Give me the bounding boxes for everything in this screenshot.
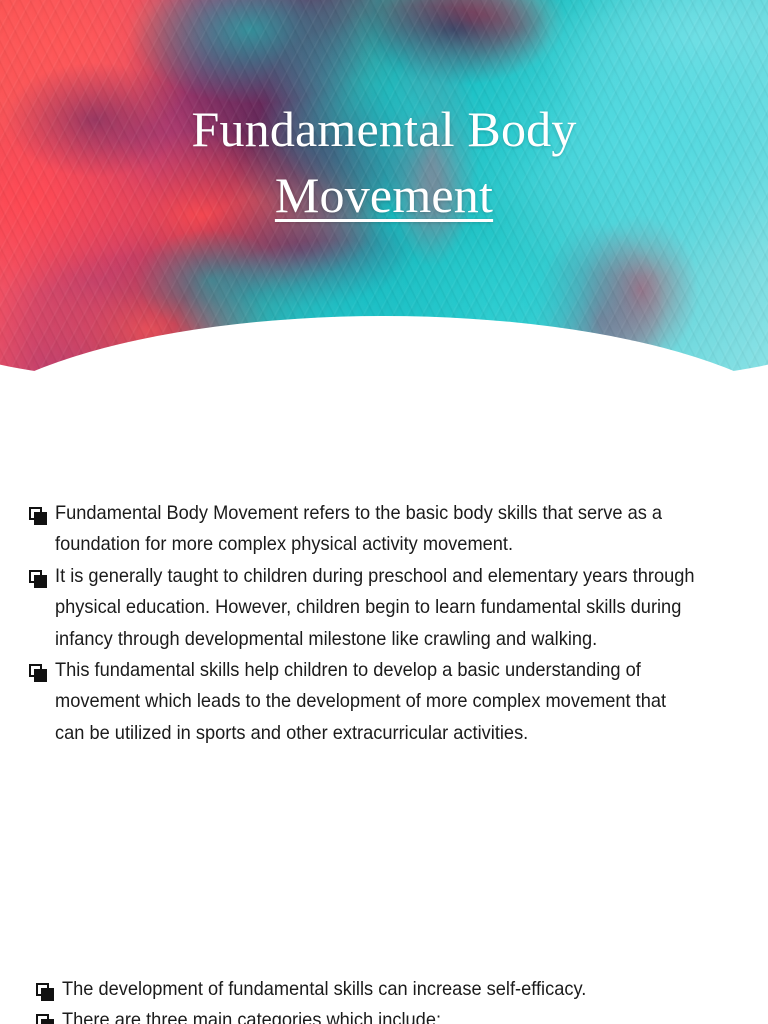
bullet-item: This fundamental skills help children to… <box>29 655 741 749</box>
bullet-text: This fundamental skills help children to… <box>55 655 696 749</box>
bullet-item: There are three main categories which in… <box>36 1005 736 1024</box>
body-bullet-list: Fundamental Body Movement refers to the … <box>29 498 741 749</box>
bullet-item: Fundamental Body Movement refers to the … <box>29 498 741 561</box>
checkbox-square-icon <box>36 1005 62 1024</box>
bullet-text: It is generally taught to children durin… <box>55 561 696 655</box>
body-bullet-list-next: The development of fundamental skills ca… <box>36 974 736 1024</box>
bullet-text: Fundamental Body Movement refers to the … <box>55 498 696 561</box>
checkbox-square-icon <box>29 561 55 592</box>
checkbox-square-icon <box>29 655 55 686</box>
bullet-item: It is generally taught to children durin… <box>29 561 741 655</box>
header-banner-image: Fundamental Body Movement <box>0 0 768 392</box>
checkbox-square-icon <box>36 974 62 1005</box>
slide-fundamental-body-movement: Fundamental Body Movement Fundamental Bo… <box>0 0 768 960</box>
slide-next-partial: The development of fundamental skills ca… <box>0 960 768 1024</box>
bullet-text: There are three main categories which in… <box>62 1005 692 1024</box>
bullet-item: The development of fundamental skills ca… <box>36 974 736 1005</box>
bullet-text: The development of fundamental skills ca… <box>62 974 692 1005</box>
checkbox-square-icon <box>29 498 55 529</box>
